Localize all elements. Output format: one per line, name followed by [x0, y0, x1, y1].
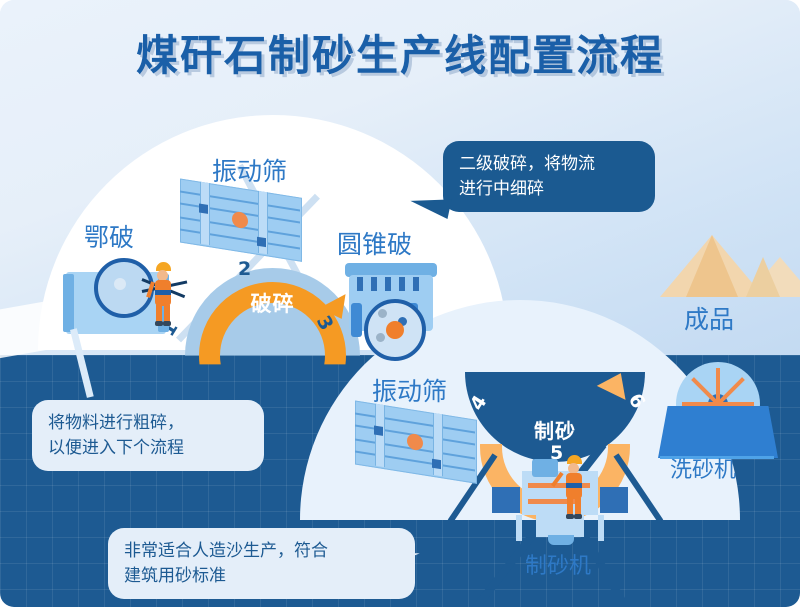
label-sand-maker: 制砂机	[525, 548, 591, 580]
vibrating-screen-icon-top	[180, 188, 300, 250]
callout-cone-line2: 进行中细碎	[459, 177, 639, 202]
label-cone-crusher: 圆锥破	[337, 225, 412, 261]
label-vibrating-screen-bottom: 振动筛	[372, 372, 447, 408]
label-jaw-crusher: 鄂破	[84, 218, 134, 254]
vibrating-screen-icon-bottom	[355, 410, 475, 472]
label-sand-washer: 洗砂机	[670, 452, 736, 484]
callout-cone-crusher: 二级破碎，将物流 进行中细碎	[443, 141, 655, 212]
label-vibrating-screen-top: 振动筛	[212, 152, 287, 188]
step-number-2: 2	[238, 258, 251, 280]
label-finished-product: 成品	[684, 300, 734, 336]
callout-jaw-line2: 以便进入下个流程	[48, 436, 248, 461]
callout-sand-maker: 非常适合人造沙生产，符合 建筑用砂标准	[108, 528, 415, 599]
callout-sand-line2: 建筑用砂标准	[124, 564, 399, 589]
callout-cone-line1: 二级破碎，将物流	[459, 152, 639, 177]
callout-sand-line1: 非常适合人造沙生产，符合	[124, 539, 399, 564]
infographic-canvas: 煤矸石制砂生产线配置流程 破碎 1 2 3 制砂 4 5 6 鄂破	[0, 0, 800, 607]
page-title: 煤矸石制砂生产线配置流程	[0, 22, 800, 83]
callout-jaw-crusher: 将物料进行粗碎， 以便进入下个流程	[32, 400, 264, 471]
hub-sandmaking-label: 制砂	[465, 415, 645, 444]
callout-jaw-line1: 将物料进行粗碎，	[48, 411, 248, 436]
hub-crushing-label: 破碎	[185, 288, 360, 318]
